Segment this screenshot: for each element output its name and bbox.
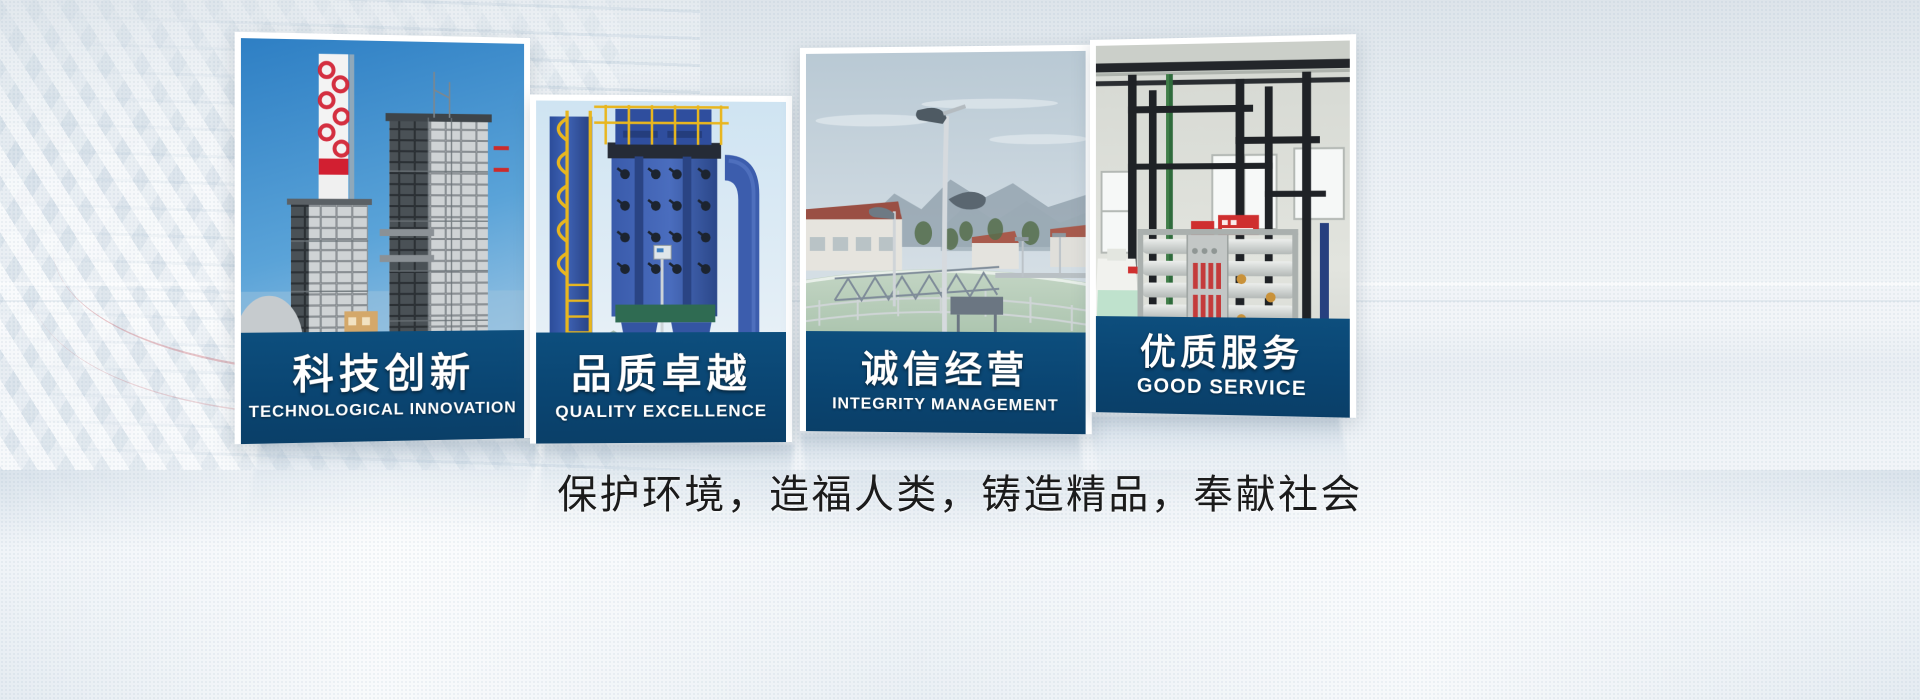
company-culture-banner: 科技创新 TECHNOLOGICAL INNOVATION	[0, 0, 1920, 700]
culture-panel-good-service[interactable]: 优质服务 GOOD SERVICE	[1090, 34, 1356, 418]
panel-caption: 品质卓越 QUALITY EXCELLENCE	[536, 332, 786, 444]
culture-panel-integrity-management[interactable]: 诚信经营 INTEGRITY MANAGEMENT	[800, 45, 1092, 435]
panel-title-cn: 科技创新	[292, 352, 474, 397]
panel-title-cn: 诚信经营	[861, 350, 1029, 390]
panel-title-cn: 品质卓越	[571, 353, 752, 396]
panel-caption: 优质服务 GOOD SERVICE	[1096, 316, 1350, 418]
culture-panel-technological-innovation[interactable]: 科技创新 TECHNOLOGICAL INNOVATION	[235, 32, 530, 444]
panel-title-en: INTEGRITY MANAGEMENT	[832, 395, 1058, 415]
panel-caption: 诚信经营 INTEGRITY MANAGEMENT	[806, 331, 1086, 434]
panel-frame: 科技创新 TECHNOLOGICAL INNOVATION	[241, 38, 524, 444]
panel-title-en: QUALITY EXCELLENCE	[555, 402, 767, 422]
panel-title-en: TECHNOLOGICAL INNOVATION	[249, 399, 517, 422]
panel-title-cn: 优质服务	[1140, 333, 1304, 374]
panel-frame: 品质卓越 QUALITY EXCELLENCE	[536, 101, 786, 444]
culture-panel-quality-excellence[interactable]: 品质卓越 QUALITY EXCELLENCE	[530, 94, 792, 443]
banner-tagline: 保护环境，造福人类，铸造精品，奉献社会	[0, 462, 1920, 520]
panel-frame: 诚信经营 INTEGRITY MANAGEMENT	[806, 51, 1086, 434]
panel-title-en: GOOD SERVICE	[1137, 375, 1307, 401]
panel-frame: 优质服务 GOOD SERVICE	[1096, 41, 1350, 418]
panel-caption: 科技创新 TECHNOLOGICAL INNOVATION	[241, 330, 524, 444]
culture-panel-group: 科技创新 TECHNOLOGICAL INNOVATION	[0, 0, 1920, 700]
